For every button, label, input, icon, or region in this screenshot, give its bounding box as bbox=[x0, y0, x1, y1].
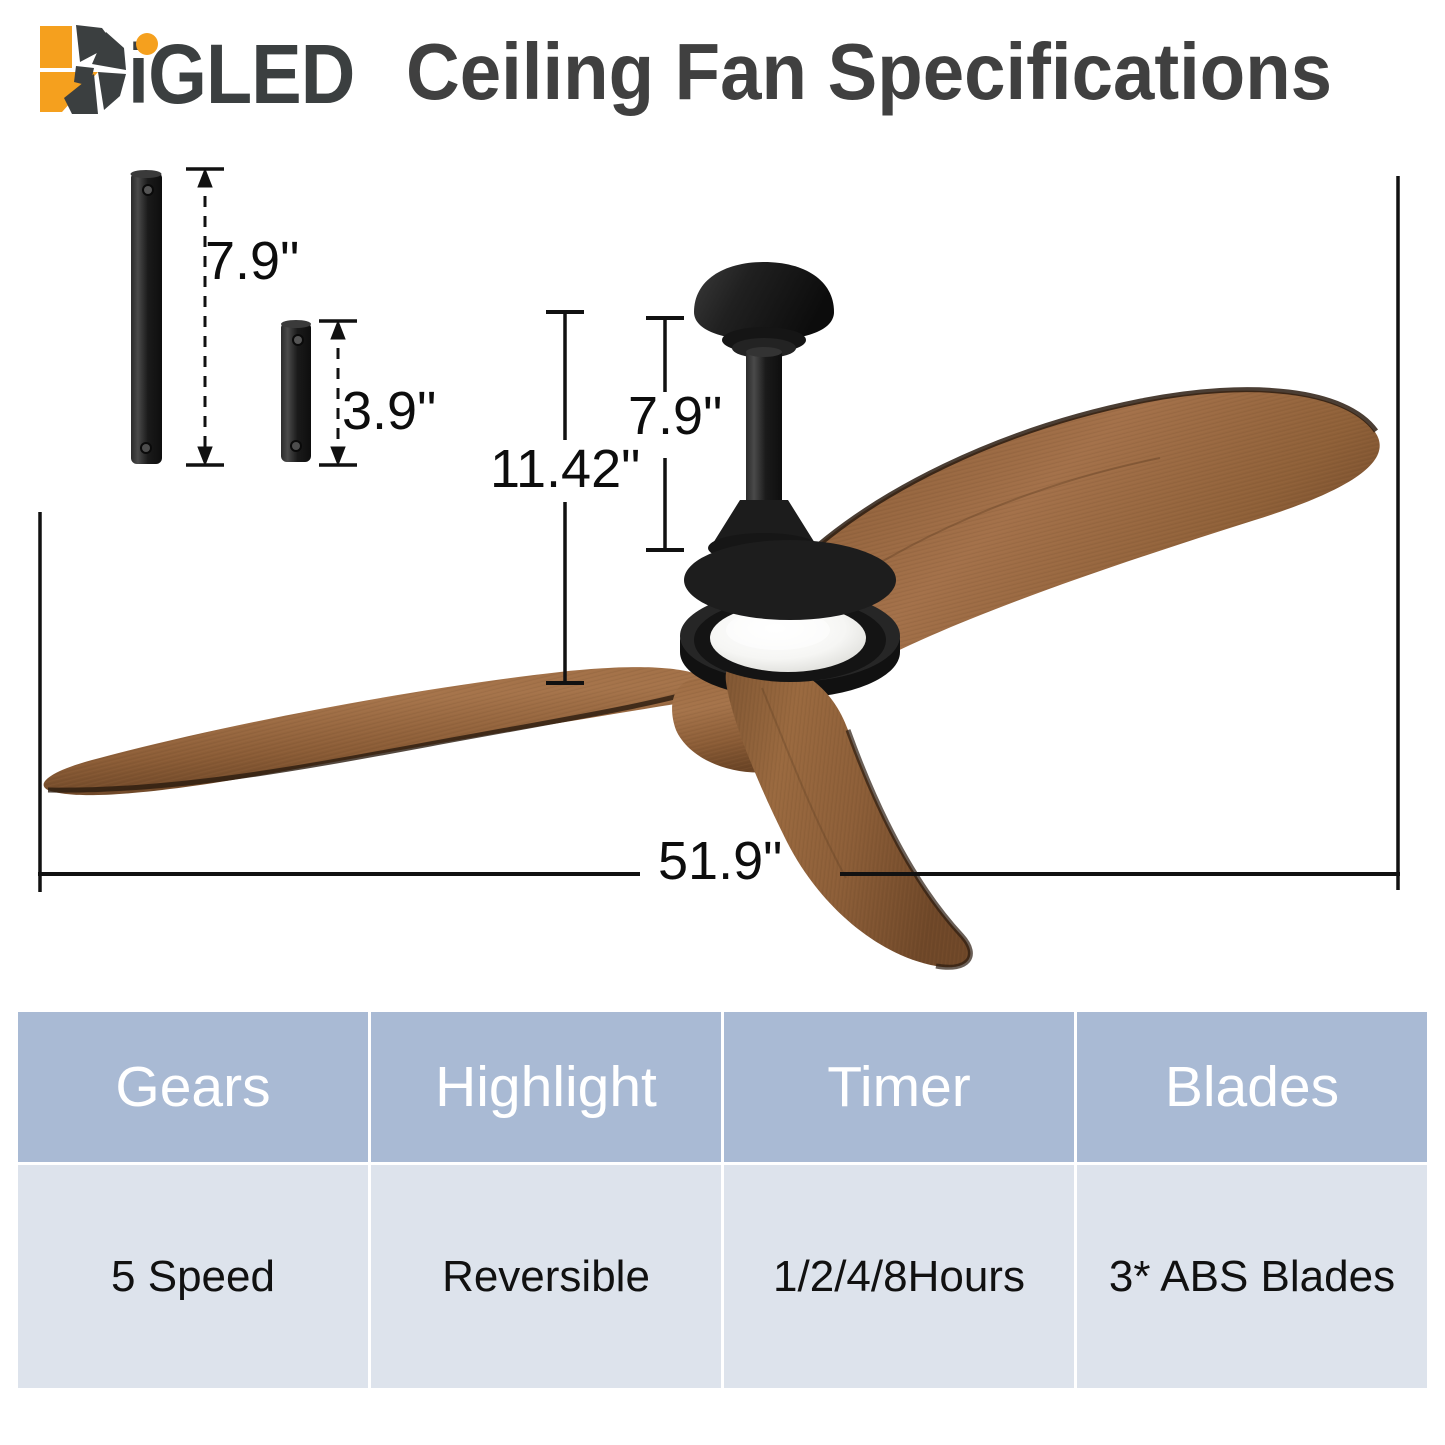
fan-blade-left bbox=[44, 667, 830, 795]
table-header-row: Gears Highlight Timer Blades bbox=[18, 1012, 1427, 1162]
dimension-label-downrod-long: 7.9" bbox=[205, 230, 299, 292]
table-row: 5 Speed Reversible 1/2/4/8Hours 3* ABS B… bbox=[18, 1165, 1427, 1388]
downrod-long bbox=[131, 170, 163, 464]
table-header-highlight: Highlight bbox=[371, 1012, 721, 1162]
downrod-short bbox=[281, 320, 311, 462]
table-value-highlight: Reversible bbox=[371, 1165, 721, 1388]
table-header-gears: Gears bbox=[18, 1012, 368, 1162]
dimension-label-total-height: 11.42" bbox=[490, 438, 640, 500]
dimension-label-downrod-short: 3.9" bbox=[342, 380, 436, 442]
aperture-d-logo-icon bbox=[36, 22, 140, 118]
ceiling-canopy bbox=[694, 262, 834, 358]
table-value-blades: 3* ABS Blades bbox=[1077, 1165, 1427, 1388]
table-value-gears: 5 Speed bbox=[18, 1165, 368, 1388]
installed-downrod bbox=[746, 347, 782, 505]
page-title: Ceiling Fan Specifications bbox=[406, 26, 1332, 118]
fan-blade-lower bbox=[726, 660, 971, 967]
table-header-timer: Timer bbox=[724, 1012, 1074, 1162]
logo-i-dot-icon bbox=[133, 30, 163, 60]
page-header: iGLED Ceiling Fan Specifications bbox=[0, 0, 1445, 140]
fan-dimension-diagram: 7.9" 3.9" 7.9" 11.42" 51.9" bbox=[0, 140, 1445, 995]
dimension-label-blade-span: 51.9" bbox=[658, 830, 782, 892]
specifications-table: Gears Highlight Timer Blades 5 Speed Rev… bbox=[18, 1012, 1427, 1388]
dimension-label-drop-height: 7.9" bbox=[628, 385, 722, 447]
dimension-line-downrod-long bbox=[186, 169, 224, 465]
table-value-timer: 1/2/4/8Hours bbox=[724, 1165, 1074, 1388]
table-header-blades: Blades bbox=[1077, 1012, 1427, 1162]
